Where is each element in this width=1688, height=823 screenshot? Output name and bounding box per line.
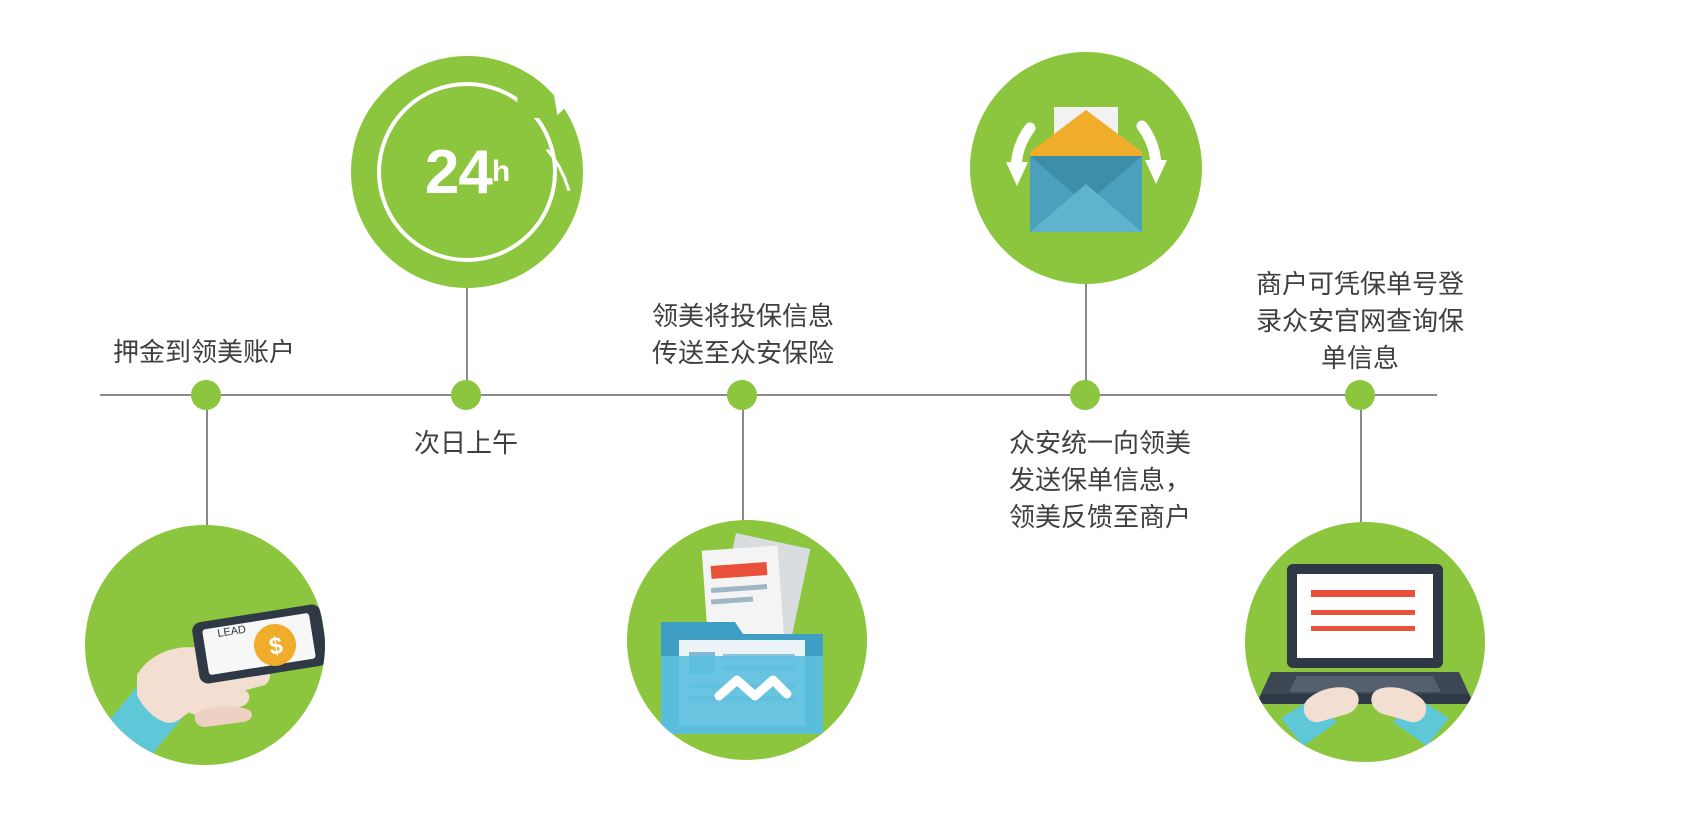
clock-label: 24h [351,56,583,288]
laptop-query-graphic [1245,522,1485,762]
connector-node-1 [206,409,208,525]
documents-folder-icon[interactable] [627,520,867,760]
timeline-node-2[interactable] [451,380,481,410]
timeline-node-1[interactable] [191,380,221,410]
timeline-node-4[interactable] [1070,380,1100,410]
connector-node-4 [1085,272,1087,395]
connector-node-2 [466,272,468,395]
laptop-query-icon[interactable] [1245,522,1485,762]
caption-node-4: 众安统一向领美 发送保单信息， 领美反馈至商户 [980,425,1220,536]
envelope-exchange-graphic [970,52,1202,284]
phone-deposit-icon[interactable]: LEAD $ [85,525,325,765]
caption-node-1: 押金到领美账户 [113,334,295,371]
clock-24h-icon[interactable]: 24h [351,56,583,288]
caption-node-5: 商户可凭保单号登 录众安官网查询保 单信息 [1248,266,1472,377]
connector-node-5 [1360,409,1362,522]
clock-value: 24 [425,137,492,208]
timeline-node-3[interactable] [727,380,757,410]
timeline-infographic: 24h [0,0,1688,823]
connector-node-3 [742,409,744,520]
clock-unit: h [492,155,509,189]
timeline-axis [100,394,1437,396]
timeline-node-5[interactable] [1345,380,1375,410]
caption-node-2: 次日上午 [386,425,546,462]
envelope-exchange-icon[interactable] [970,52,1202,284]
phone-deposit-graphic: LEAD $ [85,525,325,765]
documents-folder-graphic [627,520,867,760]
caption-node-3: 领美将投保信息 传送至众安保险 [633,298,853,372]
